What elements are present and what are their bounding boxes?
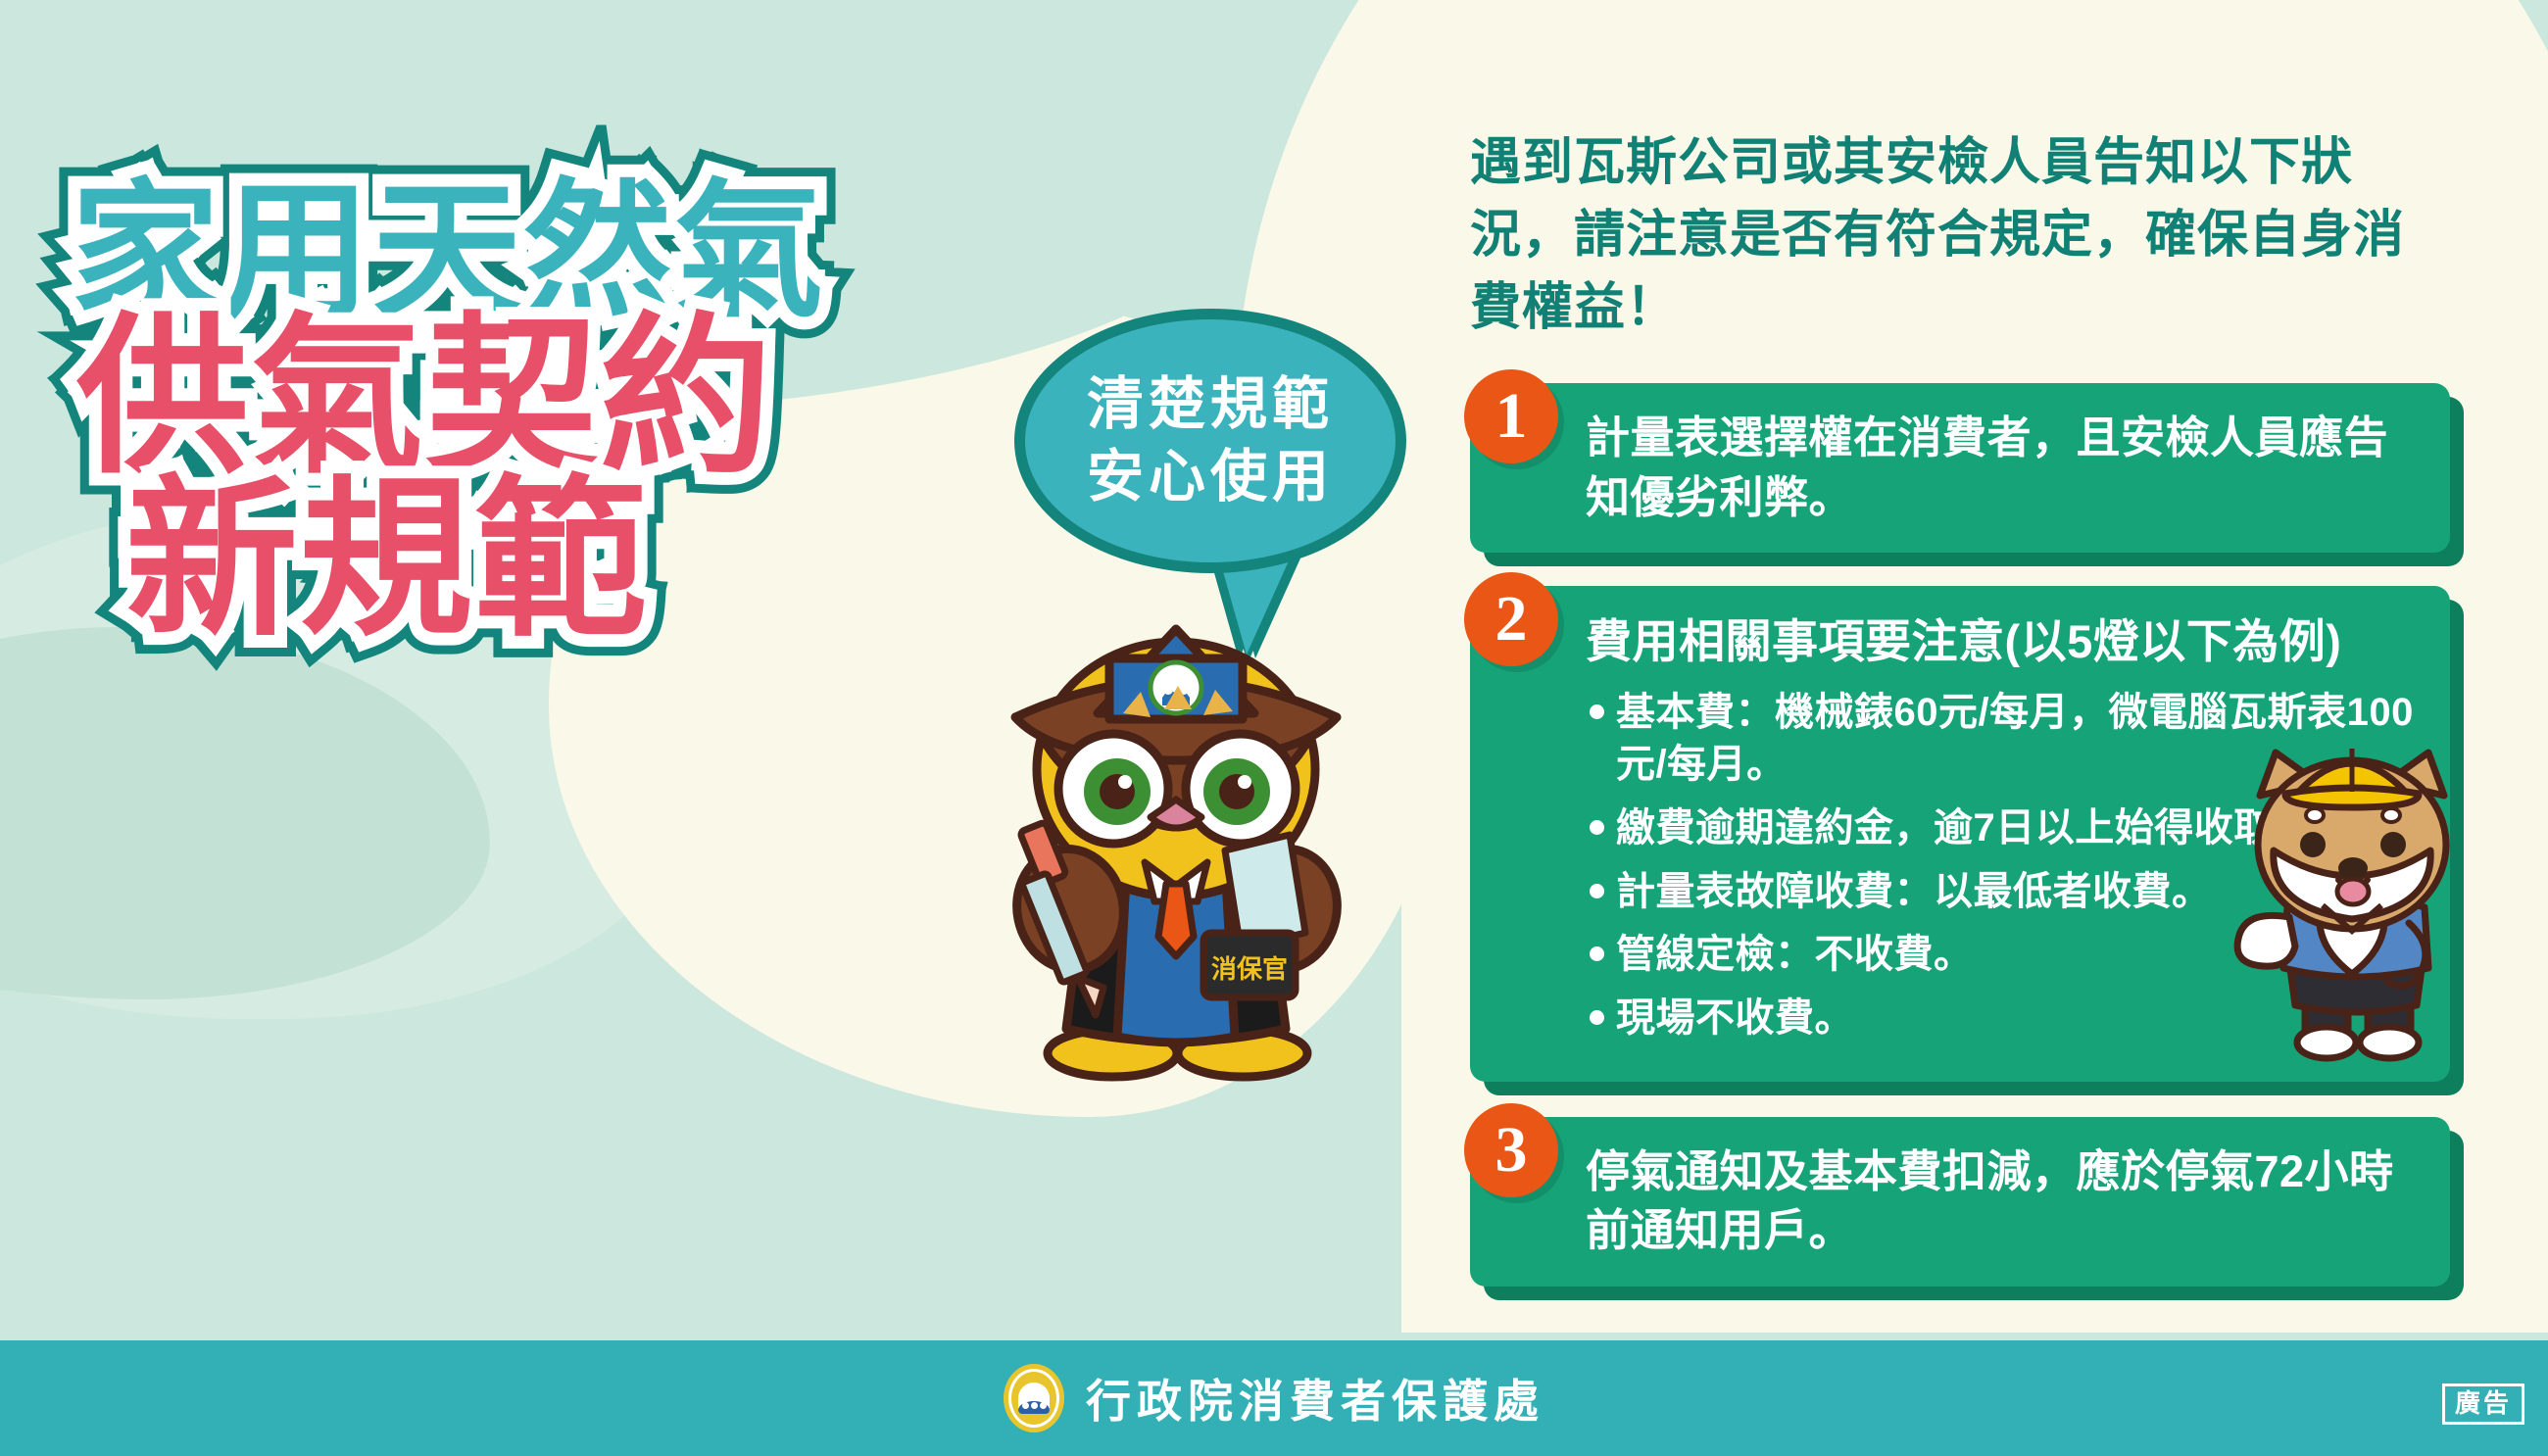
headline-line-2-text: 供氣契約 (76, 311, 1051, 487)
speech-bubble-line-2: 安心使用 (1087, 441, 1334, 513)
item-3-number: 3 (1464, 1103, 1558, 1197)
poster-canvas: 家用天然氣 家用天然氣 供氣契約 供氣契約 新規範 新規範 清楚規範 安心使用 (0, 0, 2548, 1456)
item-1-box: 計量表選擇權在消費者，且安檢人員應告知優劣利弊。 (1470, 383, 2450, 553)
bullet-dot-icon (1590, 820, 1604, 835)
footer-bar: 行政院消費者保護處 廣告 (0, 1340, 2548, 1456)
item-3: 3 停氣通知及基本費扣減，應於停氣72小時前通知用戶。 (1470, 1117, 2470, 1286)
headline-line-3-text: 新規範 (125, 473, 1051, 650)
footer-agency-name: 行政院消費者保護處 (1086, 1366, 1544, 1431)
item-2-bullet-5-text: 現場不收費。 (1616, 993, 1854, 1044)
bullet-dot-icon (1590, 704, 1604, 719)
intro-paragraph: 遇到瓦斯公司或其安檢人員告知以下狀況，請注意是否有符合規定，確保自身消費權益！ (1470, 127, 2440, 344)
owl-badge-label: 消保官 (1211, 954, 1288, 984)
headline-line-2: 供氣契約 供氣契約 (76, 311, 1051, 487)
government-emblem-icon (1004, 1364, 1064, 1432)
item-1: 1 計量表選擇權在消費者，且安檢人員應告知優劣利弊。 (1470, 383, 2470, 553)
item-1-text: 計量表選擇權在消費者，且安檢人員應告知優劣利弊。 (1586, 409, 2421, 527)
headline-group: 家用天然氣 家用天然氣 供氣契約 供氣契約 新規範 新規範 (71, 176, 1051, 649)
item-2-number: 2 (1464, 572, 1558, 666)
bullet-dot-icon (1590, 1010, 1604, 1025)
headline-line-3: 新規範 新規範 (125, 473, 1051, 650)
owl-mascot: 消保官 (931, 568, 1421, 1088)
ad-badge: 廣告 (2442, 1383, 2524, 1425)
footer-agency-group: 行政院消費者保護處 (1004, 1364, 1544, 1432)
item-2-bullet-4-text: 管線定檢：不收費。 (1616, 929, 1974, 981)
emblem-dome (1018, 1383, 1050, 1414)
bullet-dot-icon (1590, 884, 1604, 898)
item-2-title: 費用相關事項要注意(以5燈以下為例) (1586, 611, 2421, 671)
speech-bubble: 清楚規範 安心使用 (1014, 309, 1406, 573)
item-3-box: 停氣通知及基本費扣減，應於停氣72小時前通知用戶。 (1470, 1117, 2450, 1286)
speech-bubble-line-1: 清楚規範 (1087, 368, 1334, 441)
content-column: 遇到瓦斯公司或其安檢人員告知以下狀況，請注意是否有符合規定，確保自身消費權益！ … (1470, 127, 2470, 1286)
dog-mascot (2195, 735, 2509, 1068)
bullet-dot-icon (1590, 946, 1604, 961)
item-1-number: 1 (1464, 369, 1558, 463)
item-3-text: 停氣通知及基本費扣減，應於停氣72小時前通知用戶。 (1586, 1142, 2421, 1261)
item-2-bullet-3-text: 計量表故障收費：以最低者收費。 (1616, 866, 2212, 918)
